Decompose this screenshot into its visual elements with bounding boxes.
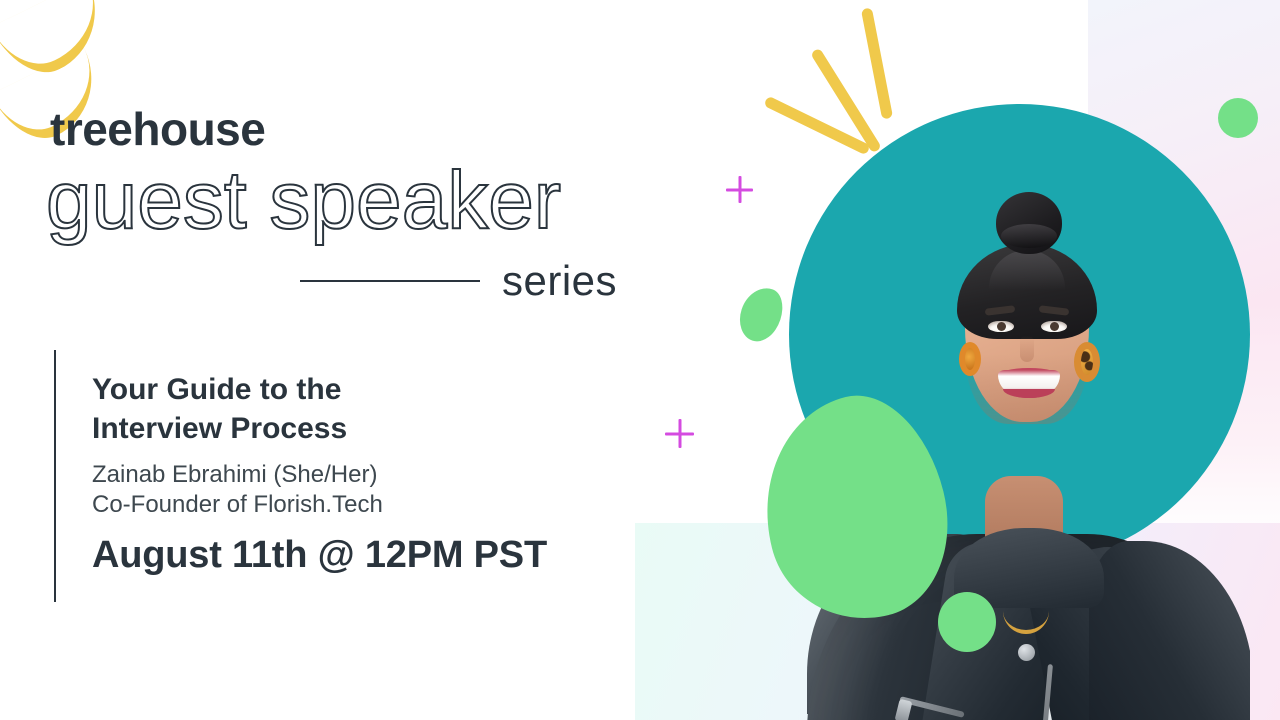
hair-bun-wrap bbox=[1001, 224, 1057, 248]
plus-mark-icon bbox=[726, 176, 753, 203]
brand-name: treehouse bbox=[50, 106, 265, 152]
series-divider bbox=[300, 280, 480, 282]
talk-title-line-1: Your Guide to the bbox=[92, 370, 522, 409]
event-date-time: August 11th @ 12PM PST bbox=[92, 534, 547, 578]
pupil-right bbox=[1050, 322, 1059, 331]
speaker-role: Co-Founder of Florish.Tech bbox=[92, 490, 383, 520]
jacket-snap-button bbox=[1018, 644, 1035, 661]
series-label: series bbox=[502, 260, 617, 302]
series-row: series bbox=[300, 256, 630, 306]
text-column: treehouse guest speaker series Your Guid… bbox=[0, 0, 660, 720]
earring-left bbox=[959, 342, 981, 376]
jacket-shoulder-right bbox=[1089, 541, 1250, 720]
promo-slide: treehouse guest speaker series Your Guid… bbox=[0, 0, 1280, 720]
talk-title-line-2: Interview Process bbox=[92, 409, 522, 448]
talk-title: Your Guide to the Interview Process bbox=[92, 370, 522, 449]
vertical-divider bbox=[54, 350, 56, 602]
earring-right bbox=[1074, 342, 1100, 382]
headline-outlined: guest speaker bbox=[46, 160, 561, 242]
plus-mark-icon bbox=[665, 419, 694, 448]
pupil-left bbox=[997, 322, 1006, 331]
nose bbox=[1020, 336, 1034, 362]
green-blob-small bbox=[733, 282, 788, 347]
green-circle-bottom-icon bbox=[938, 592, 996, 652]
yellow-sparkle-icon bbox=[861, 7, 893, 119]
speaker-name: Zainab Ebrahimi (She/Her) bbox=[92, 460, 377, 490]
